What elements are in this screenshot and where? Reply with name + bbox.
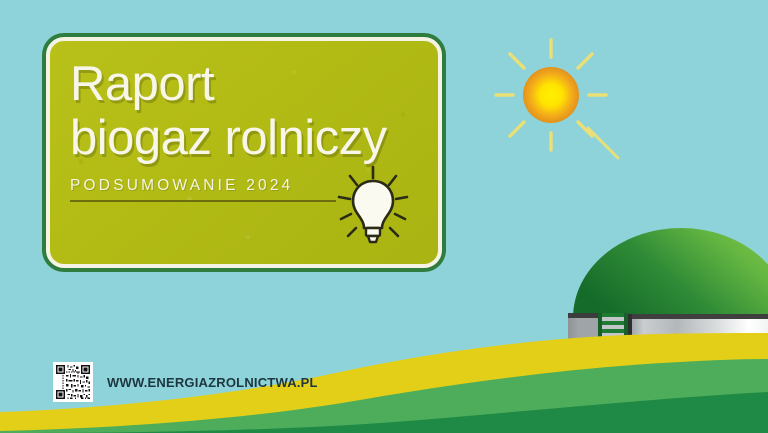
website-url[interactable]: WWW.ENERGIAZROLNICTWA.PL (107, 375, 318, 390)
title-line-1: Raport (70, 55, 430, 113)
sun-icon (523, 67, 579, 123)
footer-row: WWW.ENERGIAZROLNICTWA.PL (53, 362, 318, 402)
poster-canvas: Raport biogaz rolniczy PODSUMOWANIE 2024 (0, 0, 768, 433)
digester-tank-left-cap (568, 313, 598, 318)
qr-code[interactable] (53, 362, 93, 402)
subtitle-divider (70, 200, 336, 202)
lightbulb-icon (330, 164, 416, 250)
subtitle-text: PODSUMOWANIE 2024 (70, 177, 336, 195)
subtitle-block: PODSUMOWANIE 2024 (70, 177, 336, 202)
title-card: Raport biogaz rolniczy PODSUMOWANIE 2024 (42, 33, 446, 272)
title-card-inner: Raport biogaz rolniczy PODSUMOWANIE 2024 (46, 37, 442, 268)
digester-tank-rim (630, 314, 768, 319)
title-line-2: biogaz rolniczy (70, 109, 430, 167)
